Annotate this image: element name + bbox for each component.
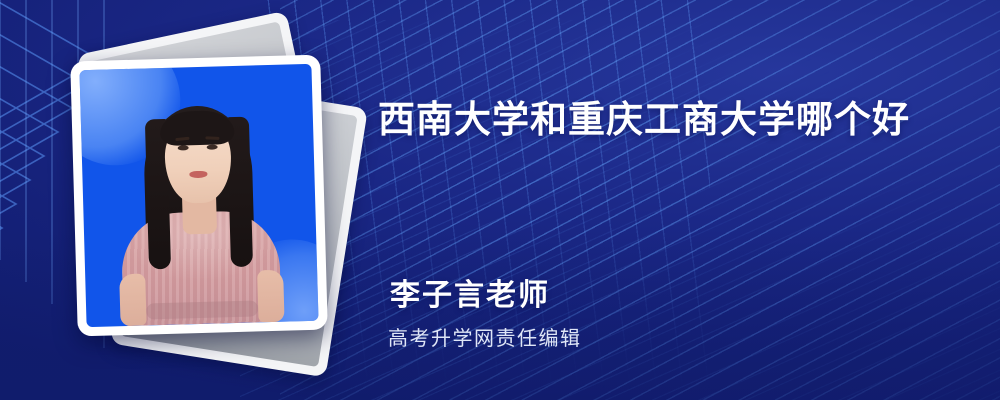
author-role: 高考升学网责任编辑 (388, 322, 582, 351)
portrait-arm-left (119, 274, 146, 327)
page-title: 西南大学和重庆工商大学哪个好 (378, 97, 910, 143)
portrait-figure (79, 64, 318, 327)
photo-stack (58, 38, 348, 338)
front-photo-frame (70, 55, 328, 337)
portrait-dress-waist (146, 300, 258, 319)
author-name: 李子言老师 (390, 270, 550, 314)
text-column: 西南大学和重庆工商大学哪个好 李子言老师 高考升学网责任编辑 (378, 0, 978, 400)
portrait-arm-right (257, 270, 284, 323)
article-header-banner: 西南大学和重庆工商大学哪个好 李子言老师 高考升学网责任编辑 (0, 0, 1000, 400)
author-portrait-photo (79, 64, 318, 327)
